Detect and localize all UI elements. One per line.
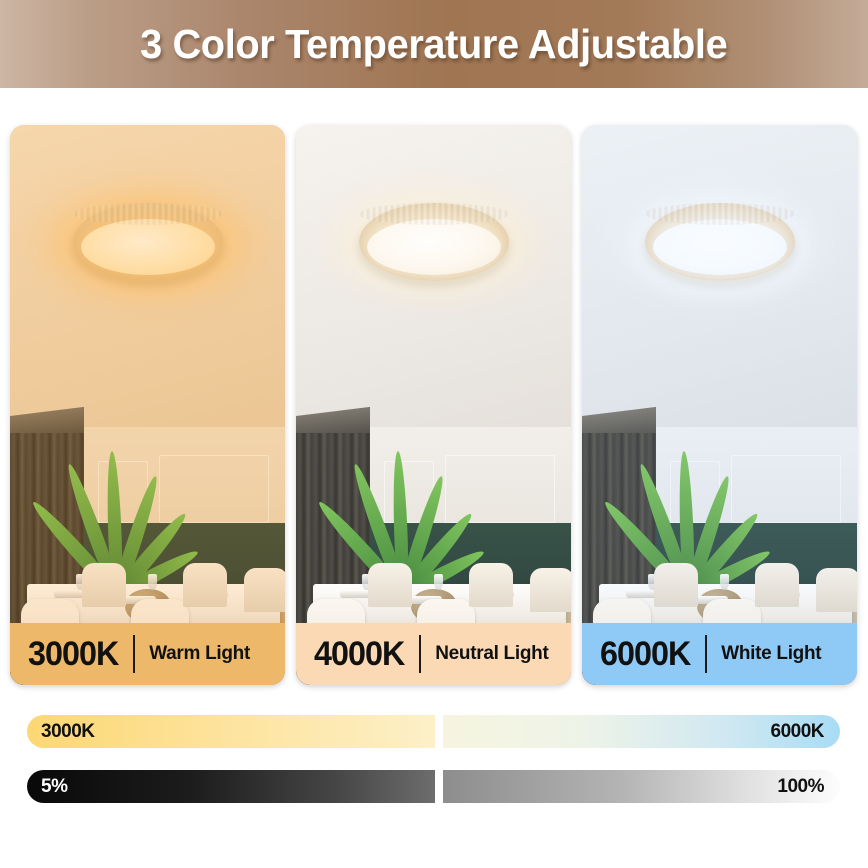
lamp-wood-rim xyxy=(359,203,509,281)
wine-glass xyxy=(434,574,443,590)
wall-moulding xyxy=(159,455,269,522)
brightness-end-label: 100% xyxy=(777,776,824,798)
light-mode-label: White Light xyxy=(721,643,821,665)
panel-row: 3000K Warm Light xyxy=(10,125,858,685)
kelvin-value: 4000K xyxy=(299,635,405,674)
wine-glass xyxy=(148,574,157,590)
dining-chair xyxy=(654,563,698,607)
wall-moulding xyxy=(445,455,555,522)
potted-plant xyxy=(340,360,461,595)
caption-divider xyxy=(705,635,707,673)
product-infographic: 3 Color Temperature Adjustable xyxy=(0,0,868,868)
caption-warm: 3000K Warm Light xyxy=(10,623,285,685)
light-mode-label: Warm Light xyxy=(149,643,250,665)
dining-chair xyxy=(816,568,857,612)
cct-bar-left-half[interactable]: 3000K xyxy=(27,715,435,748)
potted-plant xyxy=(54,360,175,595)
color-temperature-bar[interactable]: 3000K 6000K xyxy=(0,715,868,748)
lamp-wood-rim xyxy=(73,203,223,281)
lamp-diffuser xyxy=(653,219,787,275)
dining-chair xyxy=(755,563,799,607)
caption-neutral: 4000K Neutral Light xyxy=(296,623,571,685)
dining-chair xyxy=(244,568,285,612)
lamp-diffuser xyxy=(367,219,501,275)
kelvin-value: 6000K xyxy=(585,635,691,674)
dining-chair xyxy=(368,563,412,607)
dining-chair xyxy=(183,563,227,607)
wine-glass xyxy=(720,574,729,590)
page-title: 3 Color Temperature Adjustable xyxy=(140,21,727,68)
cct-end-label: 6000K xyxy=(771,721,825,743)
gradient-bars: 3000K 6000K 5% 100% xyxy=(0,715,868,825)
kelvin-value: 3000K xyxy=(13,635,119,674)
caption-white: 6000K White Light xyxy=(582,623,857,685)
brightness-start-label: 5% xyxy=(41,776,67,798)
lamp-wood-rim xyxy=(645,203,795,281)
ceiling-lamp xyxy=(359,203,509,281)
potted-plant xyxy=(626,360,747,595)
caption-divider xyxy=(133,635,135,673)
dining-chair xyxy=(469,563,513,607)
caption-divider xyxy=(419,635,421,673)
ceiling-lamp xyxy=(645,203,795,281)
panel-warm[interactable]: 3000K Warm Light xyxy=(10,125,285,685)
header-banner: 3 Color Temperature Adjustable xyxy=(0,0,868,88)
brightness-bar-right-half[interactable]: 100% xyxy=(443,770,840,803)
wall-moulding xyxy=(731,455,841,522)
brightness-bar-left-half[interactable]: 5% xyxy=(27,770,435,803)
panel-white[interactable]: 6000K White Light xyxy=(582,125,857,685)
cct-bar-right-half[interactable]: 6000K xyxy=(443,715,840,748)
ceiling-lamp xyxy=(73,203,223,281)
cct-start-label: 3000K xyxy=(41,721,95,743)
dining-chair xyxy=(82,563,126,607)
panel-neutral[interactable]: 4000K Neutral Light xyxy=(296,125,571,685)
light-mode-label: Neutral Light xyxy=(435,643,548,665)
dining-chair xyxy=(530,568,571,612)
room-scene-warm xyxy=(10,125,285,685)
room-scene-neutral xyxy=(296,125,571,685)
brightness-bar[interactable]: 5% 100% xyxy=(0,770,868,803)
room-scene-white xyxy=(582,125,857,685)
lamp-diffuser xyxy=(81,219,215,275)
